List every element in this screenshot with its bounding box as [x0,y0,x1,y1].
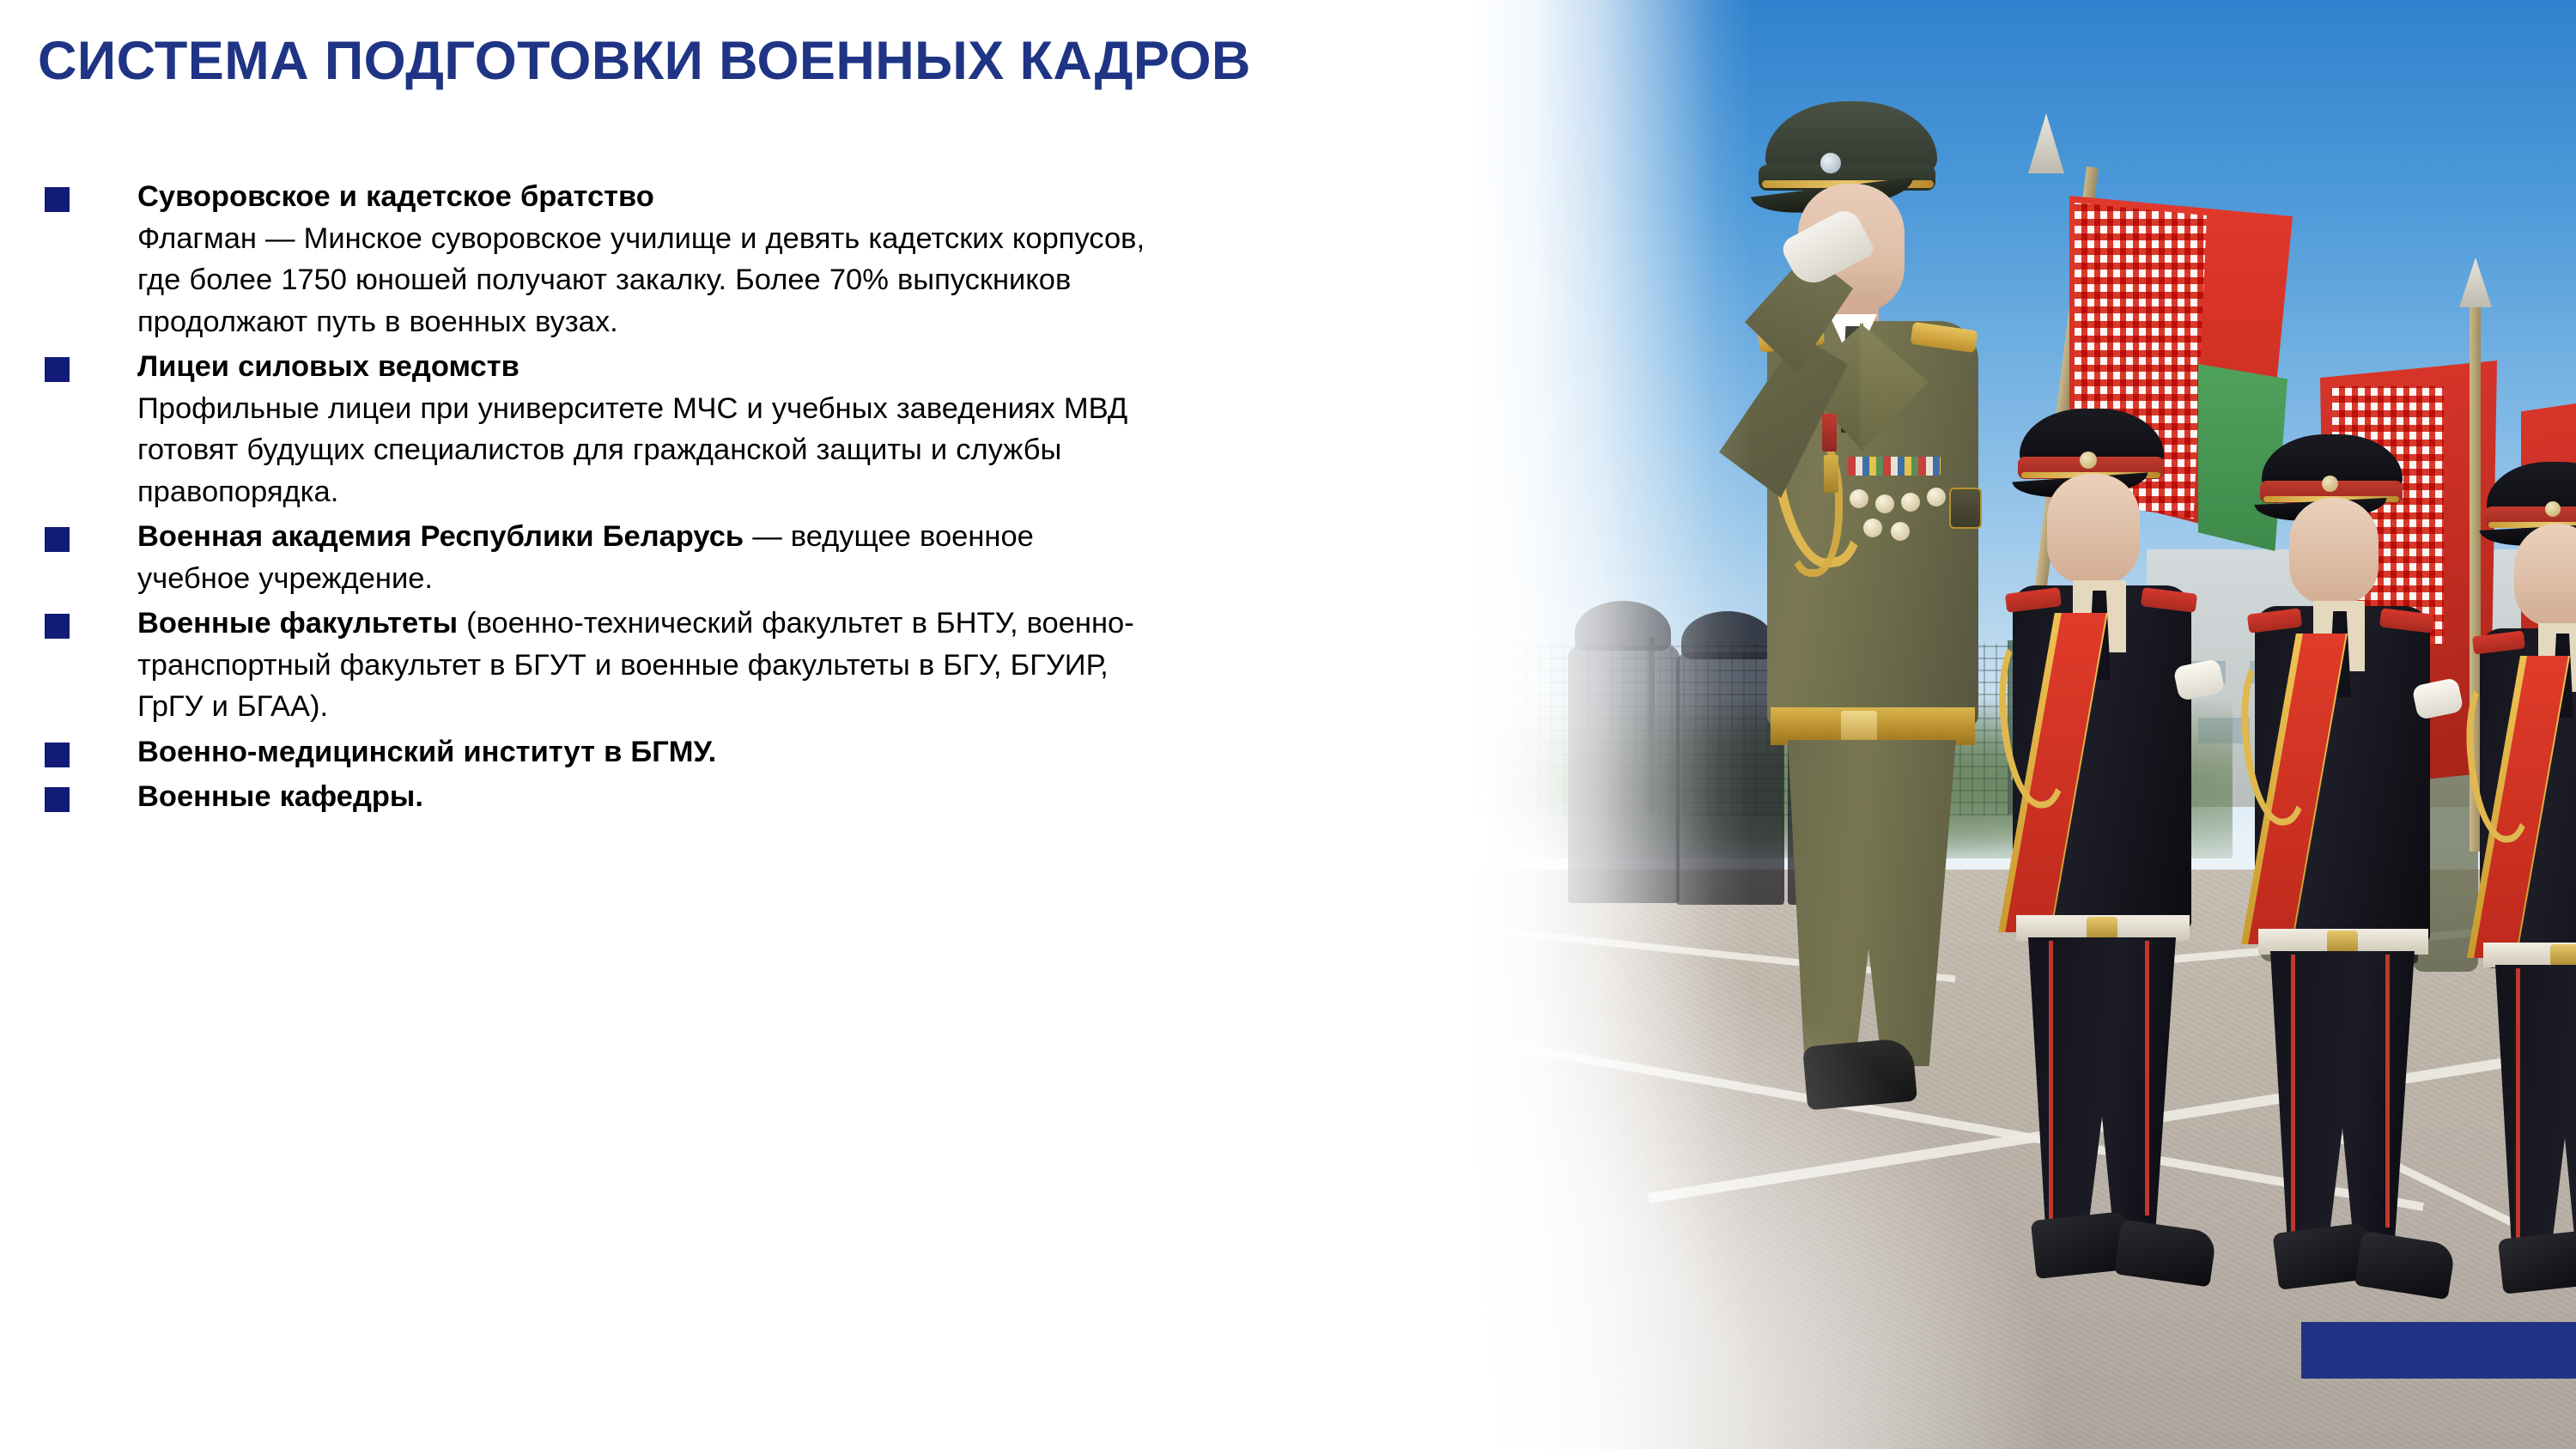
officer-medal [1863,518,1882,537]
officer-sleeve-patch [1949,488,1982,529]
text-column: СИСТЕМА ПОДГОТОВКИ ВОЕННЫХ КАДРОВ Суворо… [0,0,1460,1449]
bullet-square-icon [45,614,70,639]
officer-medal [1927,488,1946,506]
bullet-lead: Военные факультеты [137,607,458,640]
bullet-body: Профильные лицеи при университете МЧС и … [137,392,1127,508]
list-item: Лицеи силовых ведомствПрофильные лицеи п… [38,346,1154,512]
bullet-lead: Лицеи силовых ведомств [137,350,519,383]
bullet-square-icon [45,187,70,212]
bullet-list: Суворовское и кадетское братствоФлагман … [38,176,1154,822]
list-item: Военная академия Республики Беларусь — в… [38,516,1154,599]
officer-medal [1891,522,1910,541]
bullet-body: Флагман — Минское суворовское училище и … [137,222,1145,338]
officer-medal [1875,494,1894,513]
page-title: СИСТЕМА ПОДГОТОВКИ ВОЕННЫХ КАДРОВ [38,33,1429,89]
officer-ribbon-bar [1848,457,1941,476]
list-item: Суворовское и кадетское братствоФлагман … [38,176,1154,343]
list-item: Военные кафедры. [38,776,1154,818]
bullet-lead: Военные кафедры. [137,780,423,813]
officer-medal [1850,489,1868,508]
cadet-figure [2238,434,2452,1361]
bullet-square-icon [45,787,70,812]
officer-medal [1824,455,1838,493]
bullet-lead: Военно-медицинский институт в БГМУ. [137,736,716,768]
bullet-square-icon [45,527,70,552]
photo-bottom-fade [1391,900,2044,1449]
officer-medal [1822,414,1837,452]
parade-photo [1391,0,2576,1449]
bullet-lead: Военная академия Республики Беларусь [137,520,744,553]
officer-belt-buckle [1841,711,1877,742]
bullet-square-icon [45,357,70,382]
officer-cap-badge [1820,153,1841,173]
accent-bar [2301,1322,2576,1379]
officer-medal [1901,493,1920,512]
cadet-figure [2464,462,2576,1355]
list-item: Военные факультеты (военно-технический ф… [38,603,1154,728]
bullet-square-icon [45,743,70,767]
bullet-lead: Суворовское и кадетское братство [137,180,654,213]
list-item: Военно-медицинский институт в БГМУ. [38,731,1154,773]
slide-root: СИСТЕМА ПОДГОТОВКИ ВОЕННЫХ КАДРОВ Суворо… [0,0,2576,1449]
